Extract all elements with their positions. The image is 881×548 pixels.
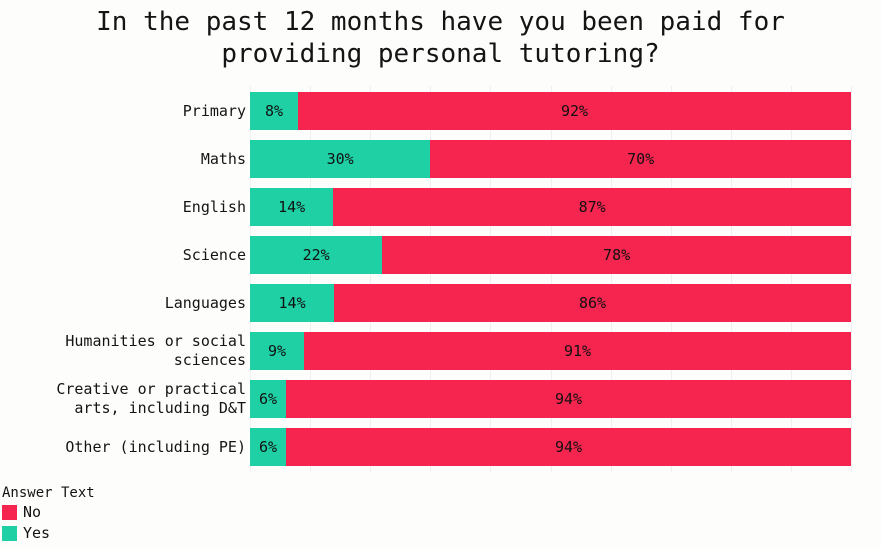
bar-value-label-yes: 6% [259,392,277,407]
legend-item-yes[interactable]: Yes [2,523,260,544]
bar-segment-yes[interactable]: 14% [250,284,334,322]
bar-row: 22%78% [250,236,851,274]
chart-plot-area: 8%92%30%70%14%87%22%78%14%86%9%91%6%94%6… [250,86,851,472]
bar-segment-no[interactable]: 86% [334,284,851,322]
y-axis-label: Primary [0,102,246,121]
bar-segment-no[interactable]: 91% [304,332,851,370]
legend-item-no[interactable]: No [2,502,260,523]
legend-title: Answer Text [2,484,260,502]
legend-swatch-no [2,505,17,520]
bar-segment-no[interactable]: 87% [333,188,851,226]
bar-value-label-yes: 6% [259,440,277,455]
bar-row: 6%94% [250,428,851,466]
bar-segment-yes[interactable]: 14% [250,188,333,226]
y-axis-label: Creative or practical arts, including D&… [0,380,246,418]
y-axis-label: Languages [0,294,246,313]
bar-value-label-no: 86% [579,296,606,311]
y-axis-category-labels: PrimaryMathsEnglishScienceLanguagesHuman… [0,86,246,472]
bar-value-label-yes: 14% [278,200,305,215]
bar-value-label-no: 91% [564,344,591,359]
bar-segment-yes[interactable]: 6% [250,428,286,466]
bar-row: 14%86% [250,284,851,322]
bar-value-label-no: 78% [603,248,630,263]
bar-row: 14%87% [250,188,851,226]
chart-legend: Answer Text No Yes [0,484,260,544]
bar-value-label-no: 94% [555,392,582,407]
bar-row: 8%92% [250,92,851,130]
bar-segment-no[interactable]: 70% [430,140,851,178]
legend-label-no: No [23,505,41,520]
y-axis-label: Science [0,246,246,265]
bar-segment-no[interactable]: 92% [298,92,851,130]
bar-segment-no[interactable]: 94% [286,380,851,418]
bar-value-label-no: 94% [555,440,582,455]
legend-label-yes: Yes [23,526,50,541]
y-axis-label: English [0,198,246,217]
gridline [851,86,852,472]
bar-value-label-no: 92% [561,104,588,119]
bar-segment-no[interactable]: 78% [382,236,851,274]
bar-segment-yes[interactable]: 22% [250,236,382,274]
bar-value-label-yes: 9% [268,344,286,359]
bar-value-label-yes: 14% [279,296,306,311]
bar-value-label-no: 87% [579,200,606,215]
y-axis-label: Maths [0,150,246,169]
bar-value-label-no: 70% [627,152,654,167]
bar-row: 9%91% [250,332,851,370]
page-title: In the past 12 months have you been paid… [0,6,881,70]
legend-swatch-yes [2,526,17,541]
bar-row: 30%70% [250,140,851,178]
bar-segment-yes[interactable]: 30% [250,140,430,178]
bar-value-label-yes: 22% [303,248,330,263]
y-axis-label: Humanities or social sciences [0,332,246,370]
bar-segment-yes[interactable]: 9% [250,332,304,370]
bar-segment-yes[interactable]: 8% [250,92,298,130]
y-axis-label: Other (including PE) [0,438,246,457]
bar-row: 6%94% [250,380,851,418]
bar-segment-yes[interactable]: 6% [250,380,286,418]
bar-value-label-yes: 8% [265,104,283,119]
bar-value-label-yes: 30% [327,152,354,167]
bar-segment-no[interactable]: 94% [286,428,851,466]
